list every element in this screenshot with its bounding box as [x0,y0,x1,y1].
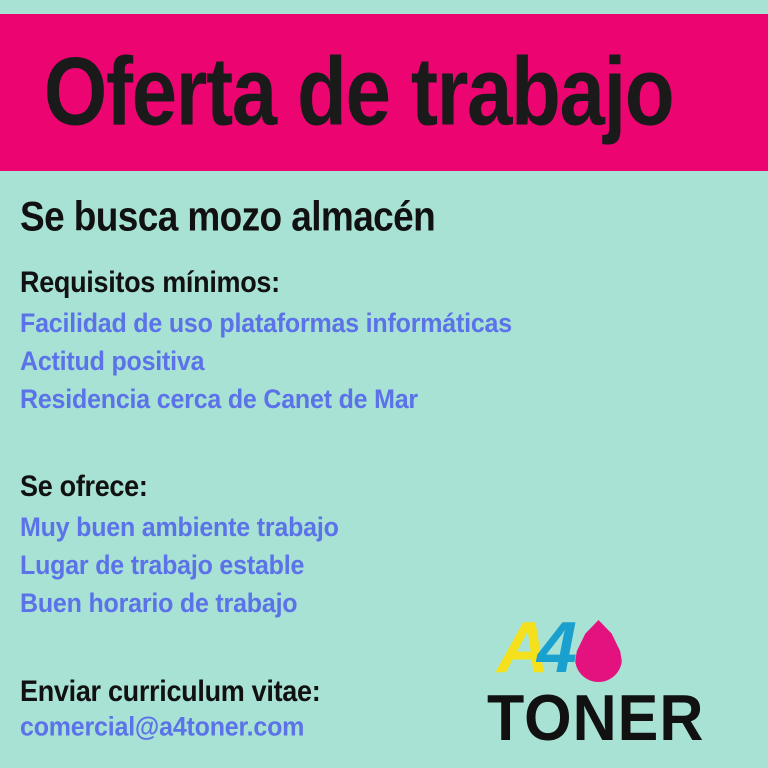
banner-title: Oferta de trabajo [0,47,673,138]
section-se-ofrece: Se ofrece: Muy buen ambiente trabajo Lug… [20,417,748,621]
page-title: Se busca mozo almacén [20,196,748,237]
se-ofrece-list: Muy buen ambiente trabajo Lugar de traba… [20,507,748,621]
list-item: Residencia cerca de Canet de Mar [20,379,748,420]
list-item: Lugar de trabajo estable [20,545,748,586]
ink-drop-icon [575,620,622,682]
logo-digit-4: 4 [537,612,574,684]
section-title-se-ofrece: Se ofrece: [20,472,748,502]
a4toner-logo: A 4 TONER [487,612,747,742]
job-offer-poster: Oferta de trabajo Se busca mozo almacén … [0,0,768,768]
logo-mark: A 4 [497,612,627,690]
list-item: Muy buen ambiente trabajo [20,507,748,548]
section-requisitos: Requisitos mínimos: Facilidad de uso pla… [20,233,748,417]
logo-wordmark: TONER [487,686,747,751]
section-title-requisitos: Requisitos mínimos: [20,268,748,298]
requisitos-list: Facilidad de uso plataformas informática… [20,303,748,417]
list-item: Facilidad de uso plataformas informática… [20,303,748,344]
header-banner: Oferta de trabajo [0,14,768,171]
list-item: Actitud positiva [20,341,748,382]
